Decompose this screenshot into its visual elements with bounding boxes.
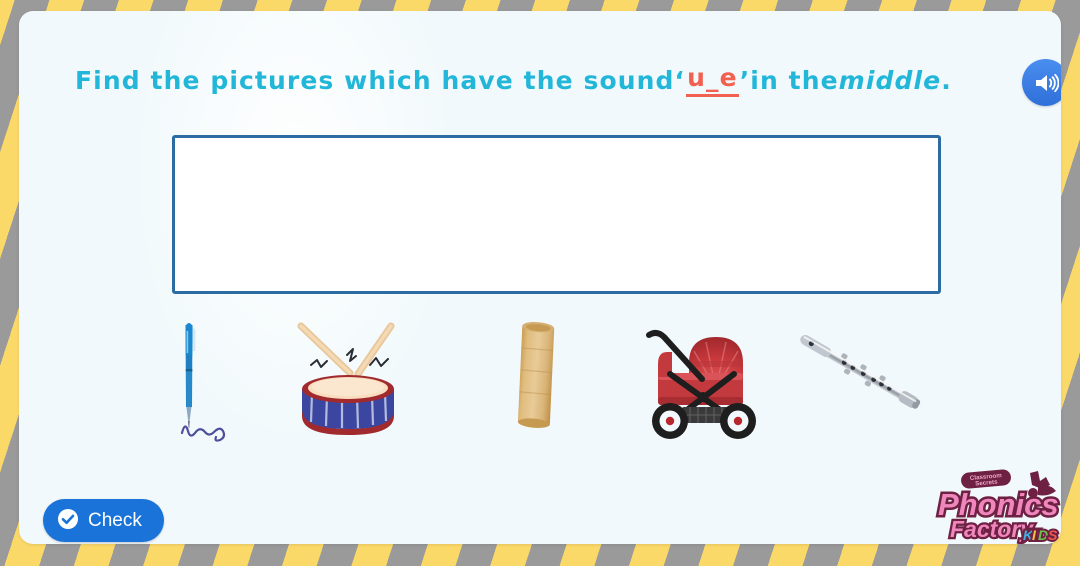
pen-icon xyxy=(182,323,224,441)
drum-icon xyxy=(301,326,394,435)
picture-item-flute[interactable] xyxy=(784,311,934,451)
logo-kids-d: D xyxy=(1038,527,1048,543)
pram-icon xyxy=(649,333,756,439)
question-period: . xyxy=(941,66,952,95)
speaker-icon xyxy=(1033,71,1059,95)
check-button-label: Check xyxy=(88,510,142,532)
quote-close: ’ xyxy=(740,66,751,95)
picture-choices xyxy=(154,311,954,451)
quote-open: ‘ xyxy=(675,66,686,95)
game-screen: Find the pictures which have the sound ‘… xyxy=(0,0,1080,566)
check-circle-icon xyxy=(57,508,79,533)
page-title: Find the pictures which have the sound ‘… xyxy=(75,56,1005,104)
activity-card: Find the pictures which have the sound ‘… xyxy=(19,11,1061,544)
logo-text-factory: Factory xyxy=(950,516,1034,542)
tube-icon xyxy=(514,321,559,429)
picture-item-tube[interactable] xyxy=(484,311,634,451)
answer-drop-zone[interactable] xyxy=(172,135,941,294)
question-text-part1: Find the pictures which have the sound xyxy=(75,66,675,95)
flute-icon xyxy=(796,331,922,414)
target-sound: u_e xyxy=(686,63,739,97)
check-button[interactable]: Check xyxy=(43,499,164,542)
question-emphasis: middle xyxy=(839,66,942,95)
picture-item-pram[interactable] xyxy=(634,311,784,451)
picture-item-drum[interactable] xyxy=(284,311,434,451)
speaker-button[interactable] xyxy=(1022,59,1061,106)
logo-kids-s: S xyxy=(1048,527,1058,543)
phonics-factory-logo: Classroom Secrets Phonics Factory K K K … xyxy=(934,469,1061,544)
question-text-part2: in the xyxy=(750,66,838,95)
picture-item-pen[interactable] xyxy=(154,311,304,451)
